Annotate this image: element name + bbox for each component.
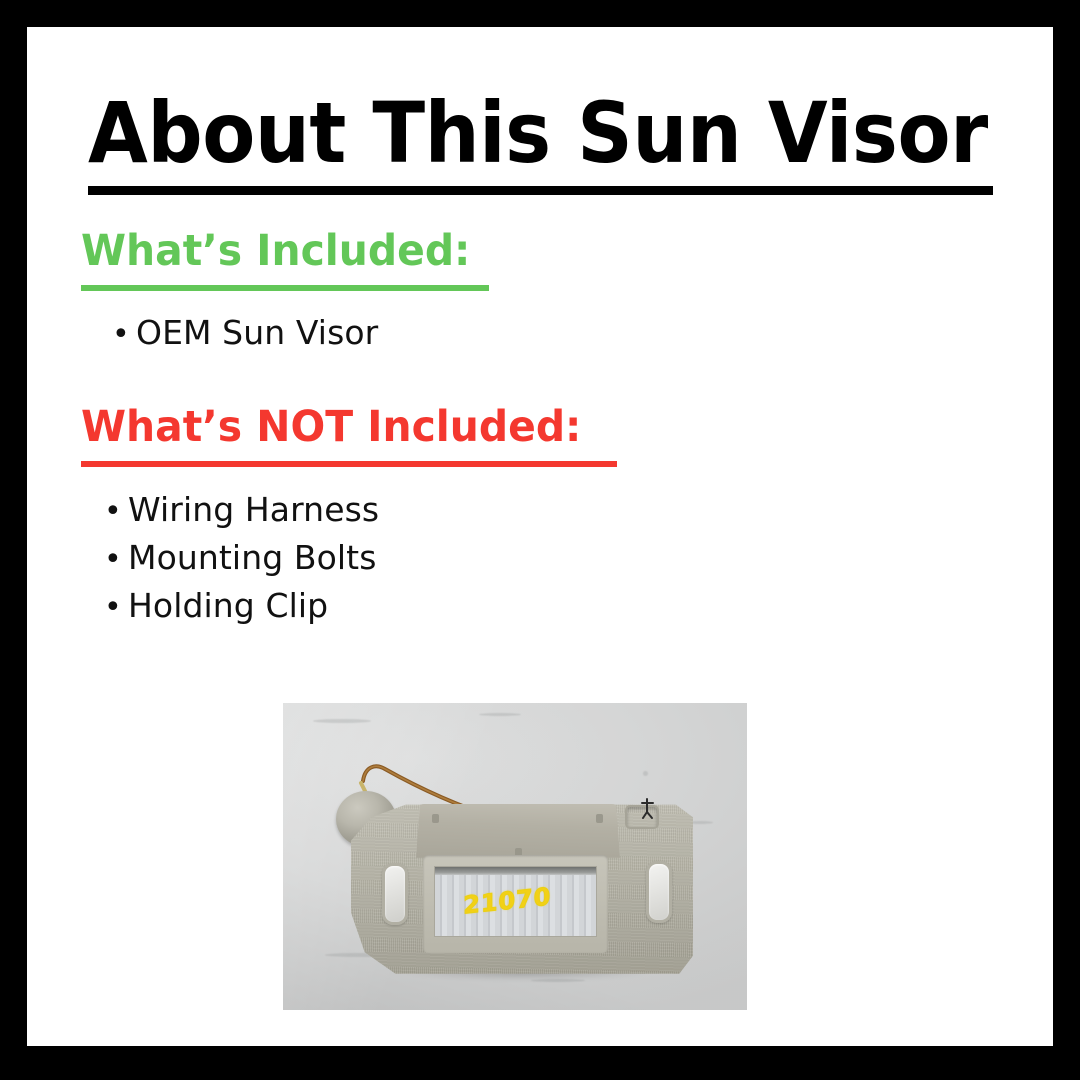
section-underline-included — [81, 285, 489, 291]
list-item: • Holding Clip — [104, 583, 379, 631]
clip-hook-icon — [641, 798, 654, 820]
sun-visor-assembly: 21070 — [283, 703, 747, 1010]
right-light-lens — [646, 861, 672, 923]
bullet-point-icon: • — [104, 537, 128, 583]
bullet-point-icon: • — [112, 312, 136, 358]
list-item-label: Wiring Harness — [128, 487, 379, 533]
list-item: • Mounting Bolts — [104, 535, 379, 583]
mirror-hinge-strip — [435, 867, 596, 875]
section-heading-not-included: What’s NOT Included: — [81, 402, 581, 452]
title-block: About This Sun Visor — [88, 85, 994, 195]
list-item-label: Mounting Bolts — [128, 535, 376, 581]
cover-tab — [432, 814, 439, 823]
left-light-lens — [382, 863, 408, 925]
page-title: About This Sun Visor — [88, 85, 922, 181]
list-item-label: Holding Clip — [128, 583, 328, 629]
part-number-marking: 21070 — [463, 884, 551, 917]
mirror-frame: 21070 — [423, 855, 608, 953]
bullet-point-icon: • — [104, 585, 128, 631]
product-photo: 21070 — [283, 703, 747, 1010]
list-item-label: OEM Sun Visor — [136, 310, 378, 356]
not-included-list: • Wiring Harness • Mounting Bolts • Hold… — [104, 487, 379, 631]
section-underline-not-included — [81, 461, 617, 467]
mirror-glass: 21070 — [434, 866, 597, 937]
included-list: • OEM Sun Visor — [112, 310, 378, 358]
content-card: About This Sun Visor What’s Included: • … — [27, 27, 1053, 1046]
list-item: • OEM Sun Visor — [112, 310, 378, 358]
mirror-cover-flap — [416, 804, 620, 860]
cover-tab — [596, 814, 603, 823]
poster-page: About This Sun Visor What’s Included: • … — [0, 0, 1080, 1080]
section-heading-included: What’s Included: — [81, 226, 470, 276]
bullet-point-icon: • — [104, 489, 128, 535]
title-underline-rule — [88, 186, 993, 195]
list-item: • Wiring Harness — [104, 487, 379, 535]
